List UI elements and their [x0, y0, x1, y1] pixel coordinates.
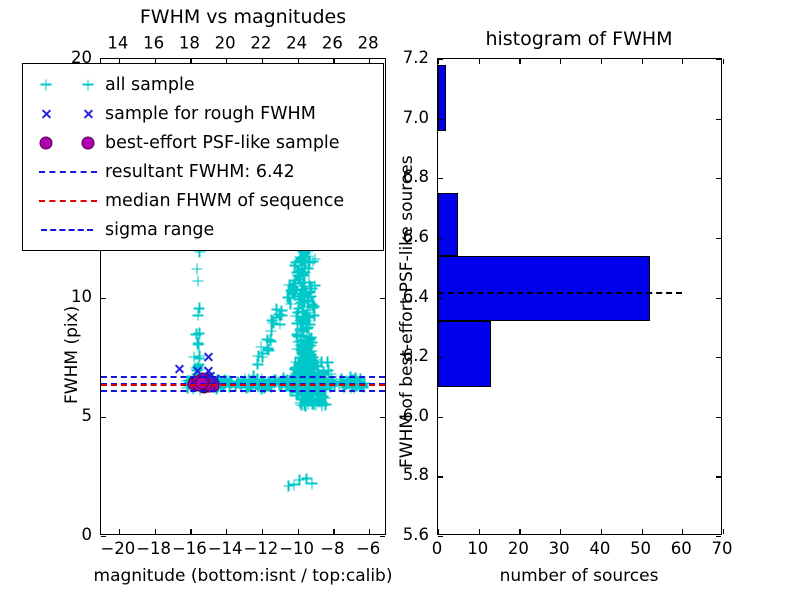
hist-ytick-right: [716, 536, 721, 537]
plus-marker-icon: [83, 79, 94, 90]
ytick-right: [380, 417, 385, 418]
scatter-xlabel: magnitude (bottom:isnt / top:calib): [94, 566, 393, 586]
hist-xticklabel: 10: [467, 541, 488, 558]
all-sample-point: [306, 478, 317, 489]
xticklabel-bottom: −8: [320, 541, 344, 558]
scatter-median-fwhm: [101, 384, 385, 386]
hist-ytick-left: [438, 476, 443, 477]
legend-label: sigma range: [105, 220, 214, 240]
all-sample-point: [322, 357, 333, 368]
legend-label: resultant FWHM: 6.42: [105, 162, 295, 182]
hist-ytick-left: [438, 119, 443, 120]
xticklabel-bottom: −16: [172, 541, 207, 558]
scatter-title: FWHM vs magnitudes: [140, 6, 346, 28]
xticklabel-top: 16: [143, 36, 164, 53]
xticklabel-top: 20: [215, 36, 236, 53]
histogram-title: histogram of FWHM: [485, 28, 672, 50]
all-sample-point: [191, 263, 202, 274]
hist-xtick-bottom: [560, 529, 561, 534]
legend-sample: [31, 190, 105, 212]
xticklabel-bottom: −18: [136, 541, 171, 558]
hist-xticklabel: 70: [712, 541, 733, 558]
xticklabel-top: 22: [250, 36, 271, 53]
hist-ytick-right: [716, 178, 721, 179]
xticklabel-bottom: −10: [279, 541, 314, 558]
hist-xtick-top: [723, 59, 724, 64]
all-sample-point: [194, 328, 205, 339]
hist-xtick-top: [560, 59, 561, 64]
xtick-bottom: [298, 529, 299, 534]
xticklabel-top: 24: [286, 36, 307, 53]
hist-ytick-right: [716, 357, 721, 358]
histogram-xlabel: number of sources: [500, 566, 659, 586]
hist-xticklabel: 20: [508, 541, 529, 558]
all-sample-point: [297, 339, 308, 350]
hist-ytick-left: [438, 417, 443, 418]
xticklabel-top: 26: [322, 36, 343, 53]
xticklabel-bottom: −20: [100, 541, 135, 558]
hist-yticklabel: 6.8: [403, 169, 429, 186]
cross-marker-icon: [41, 108, 52, 119]
hist-xtick-top: [642, 59, 643, 64]
line-sample-icon: [39, 171, 97, 173]
legend-row: best-effort PSF-like sample: [31, 128, 373, 157]
histogram-plot-area: [438, 59, 721, 534]
xticklabel-bottom: −14: [208, 541, 243, 558]
hist-xtick-top: [601, 59, 602, 64]
hist-ytick-left: [438, 298, 443, 299]
plot-legend: all samplesample for rough FWHMbest-effo…: [22, 63, 384, 251]
hist-ytick-left: [438, 357, 443, 358]
hist-xticklabel: 50: [630, 541, 651, 558]
hist-xticklabel: 0: [432, 541, 443, 558]
hist-xtick-bottom: [601, 529, 602, 534]
hist-ytick-right: [716, 59, 721, 60]
all-sample-point: [193, 275, 204, 286]
all-sample-point: [268, 317, 279, 328]
hist-ytick-left: [438, 178, 443, 179]
xticklabel-bottom: −12: [243, 541, 278, 558]
ytick-left: [101, 417, 106, 418]
hist-xticklabel: 30: [549, 541, 570, 558]
hist-yticklabel: 6.4: [403, 288, 429, 305]
histogram-bar: [438, 193, 458, 256]
line-sample-icon: [39, 200, 97, 202]
xtick-bottom: [262, 529, 263, 534]
legend-row: sample for rough FWHM: [31, 99, 373, 128]
legend-sample: [31, 219, 105, 241]
ytick-left: [101, 298, 106, 299]
hist-yticklabel: 7.2: [403, 50, 429, 67]
histogram-resultant-fwhm: [438, 292, 682, 294]
hist-xtick-bottom: [438, 529, 439, 534]
hist-ytick-right: [716, 417, 721, 418]
rough-sample-point: [174, 364, 185, 375]
all-sample-point: [307, 357, 318, 368]
hist-ytick-right: [716, 298, 721, 299]
all-sample-point: [252, 359, 263, 370]
histogram-bar: [438, 321, 491, 387]
xtick-bottom: [155, 529, 156, 534]
legend-sample: [31, 74, 105, 96]
all-sample-point: [194, 303, 205, 314]
legend-sample: [31, 103, 105, 125]
all-sample-point: [309, 399, 320, 410]
legend-sample: [31, 161, 105, 183]
circle-marker-icon: [40, 136, 53, 149]
scatter-sigma-lower: [101, 390, 385, 392]
line-sample-icon: [41, 229, 93, 231]
all-sample-point: [265, 336, 276, 347]
xticklabel-top: 18: [179, 36, 200, 53]
scatter-ylabel: FWHM (pix): [62, 306, 82, 404]
xtick-bottom: [119, 529, 120, 534]
xticklabel-bottom: −6: [356, 541, 380, 558]
all-sample-point: [290, 275, 301, 286]
xticklabel-top: 14: [107, 36, 128, 53]
yticklabel: 0: [82, 527, 93, 544]
hist-xtick-bottom: [519, 529, 520, 534]
all-sample-point: [326, 369, 337, 380]
hist-yticklabel: 7.0: [403, 109, 429, 126]
figure-canvas: FWHM vs magnitudes magnitude (bottom:isn…: [0, 0, 800, 600]
histogram-axes: [437, 58, 722, 535]
hist-xtick-bottom: [642, 529, 643, 534]
ytick-left: [101, 536, 106, 537]
hist-ytick-right: [716, 476, 721, 477]
hist-yticklabel: 6.0: [403, 408, 429, 425]
hist-xticklabel: 60: [671, 541, 692, 558]
rough-sample-point: [203, 352, 214, 363]
legend-sample: [31, 132, 105, 154]
legend-label: best-effort PSF-like sample: [105, 133, 340, 153]
histogram-bar: [438, 65, 446, 131]
xtick-bottom: [369, 529, 370, 534]
hist-xticklabel: 40: [589, 541, 610, 558]
all-sample-point: [298, 314, 309, 325]
xtick-bottom: [333, 529, 334, 534]
hist-ytick-right: [716, 238, 721, 239]
hist-xtick-bottom: [682, 529, 683, 534]
legend-row: resultant FWHM: 6.42: [31, 157, 373, 186]
hist-yticklabel: 6.6: [403, 229, 429, 246]
hist-ytick-left: [438, 238, 443, 239]
legend-label: sample for rough FWHM: [105, 104, 316, 124]
xticklabel-top: 28: [358, 36, 379, 53]
legend-row: median FHWM of sequence: [31, 186, 373, 215]
histogram-bar: [438, 256, 650, 322]
hist-yticklabel: 5.6: [403, 527, 429, 544]
hist-ytick-left: [438, 59, 443, 60]
hist-xtick-top: [519, 59, 520, 64]
hist-xtick-top: [479, 59, 480, 64]
all-sample-point: [271, 304, 282, 315]
hist-xtick-top: [682, 59, 683, 64]
scatter-sigma-upper: [101, 376, 385, 378]
ytick-right: [380, 298, 385, 299]
legend-label: all sample: [105, 75, 195, 95]
hist-yticklabel: 5.8: [403, 467, 429, 484]
xtick-bottom: [226, 529, 227, 534]
legend-row: all sample: [31, 70, 373, 99]
yticklabel: 10: [71, 288, 92, 305]
legend-row: sigma range: [31, 215, 373, 244]
xtick-bottom: [190, 529, 191, 534]
yticklabel: 5: [82, 408, 93, 425]
all-sample-point: [301, 286, 312, 297]
all-sample-point: [300, 257, 311, 268]
hist-xtick-bottom: [479, 529, 480, 534]
hist-xtick-bottom: [723, 529, 724, 534]
hist-ytick-left: [438, 536, 443, 537]
hist-yticklabel: 6.2: [403, 348, 429, 365]
hist-ytick-right: [716, 119, 721, 120]
cross-marker-icon: [83, 108, 94, 119]
plus-marker-icon: [41, 79, 52, 90]
circle-marker-icon: [82, 136, 95, 149]
legend-label: median FHWM of sequence: [105, 191, 344, 211]
ytick-right: [380, 536, 385, 537]
